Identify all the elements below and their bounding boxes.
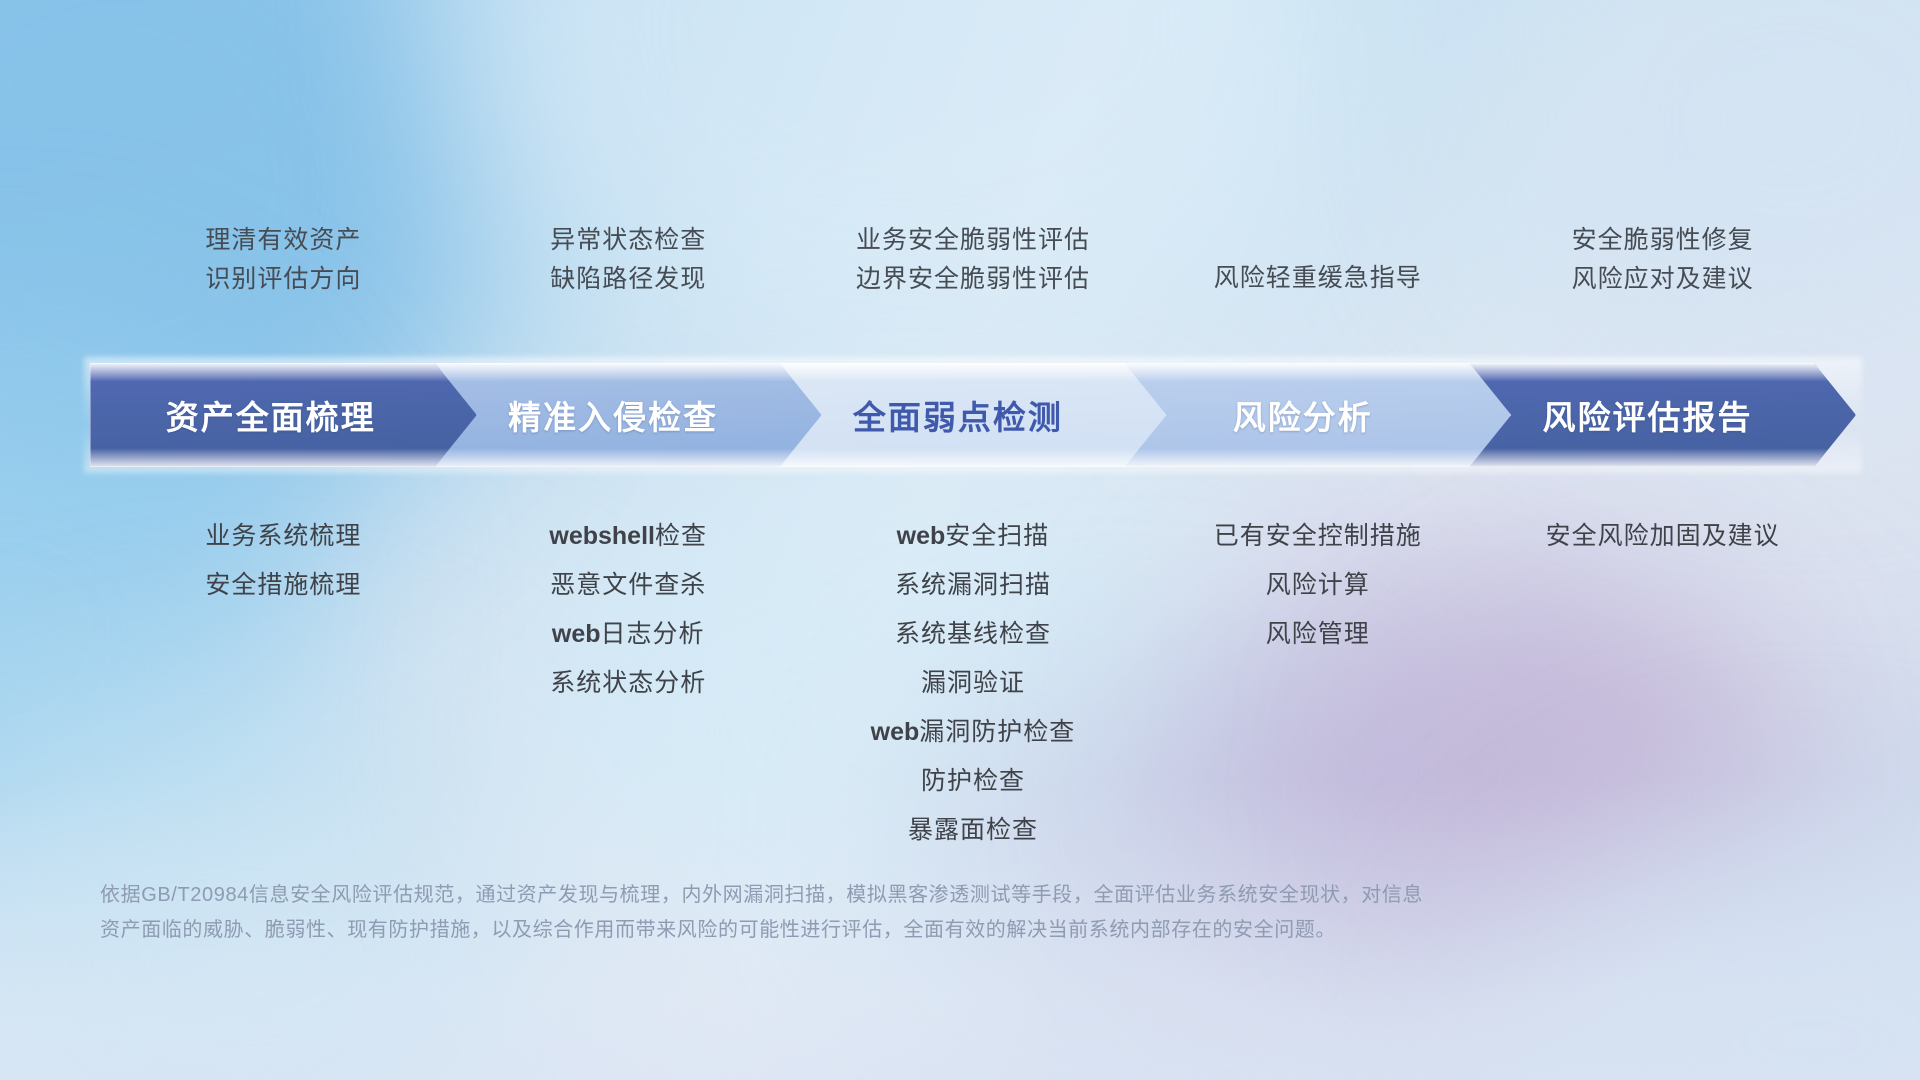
bottom-note-zh: 系统状态分析	[550, 669, 706, 697]
bottom-note-line: 安全措施梳理	[205, 561, 361, 610]
bottom-note-zh: 暴露面检查	[908, 816, 1038, 844]
top-notes-risk-report: 安全脆弱性修复风险应对及建议	[1469, 228, 1856, 292]
slide-canvas: 理清有效资产识别评估方向异常状态检查缺陷路径发现业务安全脆弱性评估边界安全脆弱性…	[0, 0, 1920, 1080]
process-chevron-band: 资产全面梳理精准入侵检查全面弱点检测风险分析风险评估报告	[0, 363, 1920, 467]
bottom-note-zh: 安全风险加固及建议	[1546, 522, 1780, 550]
bottom-note-line: 业务系统梳理	[205, 512, 361, 561]
bottom-note-zh: 风险管理	[1266, 620, 1370, 648]
bottom-note-line: 漏洞验证	[921, 659, 1025, 708]
bottom-note-line: 安全风险加固及建议	[1546, 512, 1780, 561]
top-notes-asset-inventory: 理清有效资产识别评估方向	[90, 228, 477, 292]
bottom-note-zh: 系统漏洞扫描	[895, 571, 1051, 599]
bottom-note-line: 风险管理	[1266, 610, 1370, 659]
bottom-note-line: 系统基线检查	[895, 610, 1051, 659]
top-notes-risk-analysis: 风险轻重缓急指导	[1124, 228, 1511, 291]
process-stage-asset-inventory[interactable]: 资产全面梳理	[90, 363, 477, 467]
bottom-note-line: web日志分析	[552, 610, 705, 659]
top-notes-intrusion-check: 异常状态检查缺陷路径发现	[435, 228, 822, 292]
bottom-note-zh: 安全扫描	[945, 522, 1049, 550]
top-note-line: 风险应对及建议	[1572, 267, 1754, 292]
bottom-notes-risk-report: 安全风险加固及建议	[1469, 512, 1856, 561]
bottom-note-zh: 恶意文件查杀	[550, 571, 706, 599]
top-note-line: 边界安全脆弱性评估	[856, 267, 1090, 292]
bottom-note-line: 已有安全控制措施	[1214, 512, 1422, 561]
bottom-note-line: 风险计算	[1266, 561, 1370, 610]
chevron-label-asset-inventory: 资产全面梳理	[90, 391, 477, 439]
bottom-note-zh: 系统基线检查	[895, 620, 1051, 648]
top-note-line: 安全脆弱性修复	[1572, 228, 1754, 253]
top-notes-row: 理清有效资产识别评估方向异常状态检查缺陷路径发现业务安全脆弱性评估边界安全脆弱性…	[0, 228, 1920, 338]
footer-line-1: 依据GB/T20984信息安全风险评估规范，通过资产发现与梳理，内外网漏洞扫描，…	[100, 878, 1800, 913]
top-notes-weakness-detection: 业务安全脆弱性评估边界安全脆弱性评估	[780, 228, 1167, 292]
bottom-note-line: 防护检查	[921, 757, 1025, 806]
bottom-note-line: 暴露面检查	[908, 806, 1038, 855]
top-note-line: 识别评估方向	[205, 267, 361, 292]
bottom-note-zh: 业务系统梳理	[205, 522, 361, 550]
bottom-note-zh: 日志分析	[601, 620, 705, 648]
bottom-notes-asset-inventory: 业务系统梳理安全措施梳理	[90, 512, 477, 610]
bottom-notes-intrusion-check: webshell检查恶意文件查杀web日志分析系统状态分析	[435, 512, 822, 708]
top-note-line: 异常状态检查	[550, 228, 706, 253]
footer-description: 依据GB/T20984信息安全风险评估规范，通过资产发现与梳理，内外网漏洞扫描，…	[100, 878, 1800, 948]
bottom-note-zh: 已有安全控制措施	[1214, 522, 1422, 550]
bottom-note-en: web	[552, 620, 601, 648]
top-note-line: 缺陷路径发现	[550, 267, 706, 292]
bottom-note-en: web	[897, 522, 946, 550]
bottom-note-en: web	[871, 718, 920, 746]
footer-line-2: 资产面临的威胁、脆弱性、现有防护措施，以及综合作用而带来风险的可能性进行评估，全…	[100, 913, 1800, 948]
bottom-notes-risk-analysis: 已有安全控制措施风险计算风险管理	[1124, 512, 1511, 659]
top-note-line: 理清有效资产	[205, 228, 361, 253]
bottom-note-line: webshell检查	[549, 512, 707, 561]
bottom-note-line: 系统漏洞扫描	[895, 561, 1051, 610]
bottom-note-line: 系统状态分析	[550, 659, 706, 708]
bottom-note-zh: 漏洞验证	[921, 669, 1025, 697]
bottom-note-en: webshell	[549, 522, 655, 550]
top-note-line: 风险轻重缓急指导	[1214, 266, 1422, 291]
bottom-note-zh: 安全措施梳理	[205, 571, 361, 599]
top-note-line: 业务安全脆弱性评估	[856, 228, 1090, 253]
bottom-note-line: 恶意文件查杀	[550, 561, 706, 610]
bottom-note-line: web安全扫描	[897, 512, 1050, 561]
bottom-notes-weakness-detection: web安全扫描系统漏洞扫描系统基线检查漏洞验证web漏洞防护检查防护检查暴露面检…	[780, 512, 1167, 855]
bottom-note-zh: 防护检查	[921, 767, 1025, 795]
bottom-note-line: web漏洞防护检查	[871, 708, 1076, 757]
diagram-content: 理清有效资产识别评估方向异常状态检查缺陷路径发现业务安全脆弱性评估边界安全脆弱性…	[0, 0, 1920, 1080]
bottom-note-zh: 风险计算	[1266, 571, 1370, 599]
bottom-note-zh: 检查	[655, 522, 707, 550]
bottom-note-zh: 漏洞防护检查	[919, 718, 1075, 746]
